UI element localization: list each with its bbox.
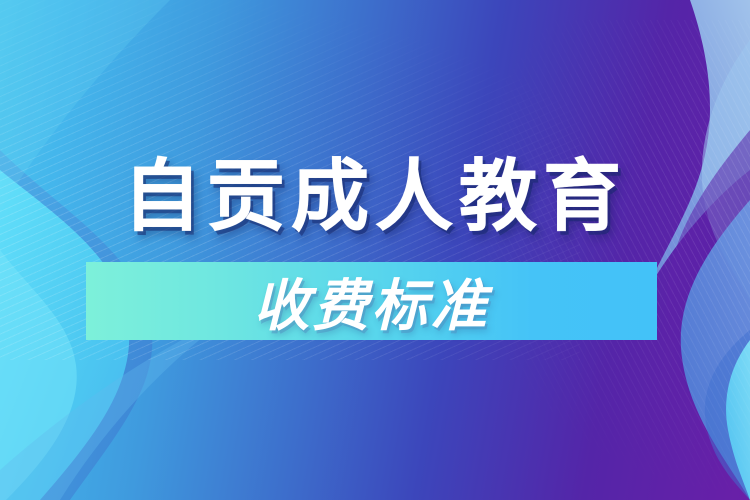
banner-content: 自贡成人教育 收费标准 bbox=[0, 0, 750, 500]
banner-subtitle: 收费标准 bbox=[86, 262, 657, 340]
banner-headline: 自贡成人教育 bbox=[0, 148, 750, 244]
promo-banner: 自贡成人教育 收费标准 bbox=[0, 0, 750, 500]
